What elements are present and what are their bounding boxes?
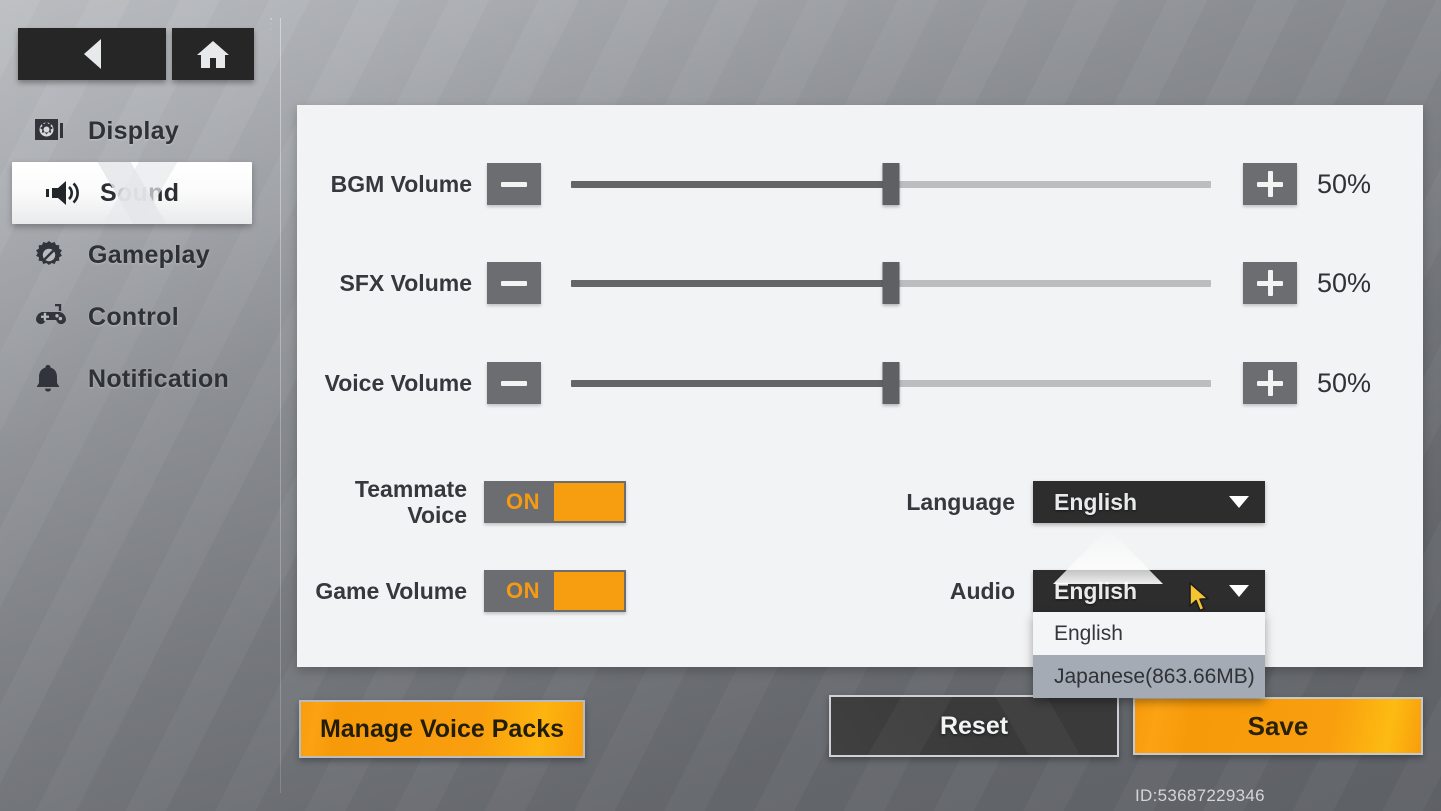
slider-thumb[interactable] — [883, 362, 900, 404]
language-label: Language — [760, 489, 1015, 515]
game-volume-toggle[interactable]: ON — [484, 570, 626, 612]
gear-icon — [34, 240, 74, 270]
sidebar-item-label: Display — [88, 117, 179, 146]
sfx-volume-decrease-button[interactable] — [487, 262, 541, 304]
slider-fill — [571, 280, 891, 287]
setting-row-bgm-volume: BGM Volume 50% — [297, 163, 1423, 205]
speaker-icon — [46, 179, 86, 207]
toggle-knob — [554, 483, 624, 521]
setting-label: SFX Volume — [297, 270, 472, 296]
slider-fill — [571, 380, 891, 387]
sidebar-item-gameplay[interactable]: Gameplay — [0, 224, 262, 286]
voice-volume-value: 50% — [1317, 368, 1371, 399]
sfx-volume-value: 50% — [1317, 268, 1371, 299]
audio-option-english[interactable]: English — [1033, 612, 1265, 655]
setting-row-game-volume: Game Volume ON Audio English English Jap… — [297, 570, 1423, 612]
bgm-volume-increase-button[interactable] — [1243, 163, 1297, 205]
slider-fill — [571, 181, 891, 188]
bgm-volume-value: 50% — [1317, 169, 1371, 200]
account-id-text: ID:53687229346 — [1135, 786, 1265, 806]
voice-volume-decrease-button[interactable] — [487, 362, 541, 404]
setting-label: Voice Volume — [297, 370, 472, 396]
language-dropdown-value: English — [1054, 489, 1137, 516]
audio-dropdown[interactable]: English English Japanese(863.66MB) — [1033, 570, 1265, 612]
bell-icon — [34, 364, 74, 394]
manage-voice-packs-label: Manage Voice Packs — [320, 715, 564, 744]
bgm-volume-slider[interactable] — [571, 169, 1211, 199]
setting-label: Teammate Voice — [297, 476, 467, 528]
dropdown-highlight-glow — [1053, 528, 1163, 584]
voice-volume-slider[interactable] — [571, 368, 1211, 398]
setting-row-voice-volume: Voice Volume 50% — [297, 362, 1423, 404]
display-icon — [34, 116, 74, 146]
toggle-state-label: ON — [506, 578, 540, 604]
minus-icon — [501, 281, 527, 286]
settings-panel: BGM Volume 50% SFX Volume — [297, 105, 1423, 667]
setting-row-teammate-voice: Teammate Voice ON Language English — [297, 476, 1423, 528]
vertical-divider — [280, 18, 281, 793]
chevron-down-icon — [1229, 585, 1249, 597]
slider-thumb[interactable] — [883, 163, 900, 205]
voice-volume-increase-button[interactable] — [1243, 362, 1297, 404]
divider-tick-marks: ■▪▪ — [270, 16, 280, 58]
minus-icon — [501, 182, 527, 187]
language-dropdown[interactable]: English — [1033, 481, 1265, 523]
gamepad-icon — [34, 304, 74, 330]
minus-icon — [501, 381, 527, 386]
save-label: Save — [1248, 711, 1309, 742]
manage-voice-packs-button[interactable]: Manage Voice Packs — [299, 700, 585, 758]
home-button[interactable] — [172, 28, 254, 80]
setting-row-sfx-volume: SFX Volume 50% — [297, 262, 1423, 304]
setting-label: Game Volume — [297, 578, 467, 604]
sidebar-item-label: Control — [88, 303, 179, 332]
sidebar-item-control[interactable]: Control — [0, 286, 262, 348]
back-button[interactable] — [18, 28, 166, 80]
sidebar-item-notification[interactable]: Notification — [0, 348, 262, 410]
sidebar-item-label: Sound — [100, 179, 179, 208]
audio-label: Audio — [760, 578, 1015, 604]
slider-thumb[interactable] — [883, 262, 900, 304]
sfx-volume-increase-button[interactable] — [1243, 262, 1297, 304]
game-settings-screen: Display Sound Gameplay — [0, 0, 1441, 811]
sidebar-item-sound[interactable]: Sound — [12, 162, 252, 224]
sfx-volume-slider[interactable] — [571, 268, 1211, 298]
reset-button[interactable]: Reset — [829, 695, 1119, 757]
save-button[interactable]: Save — [1133, 697, 1423, 755]
home-icon — [196, 39, 230, 69]
bgm-volume-decrease-button[interactable] — [487, 163, 541, 205]
settings-sidebar: Display Sound Gameplay — [0, 100, 262, 410]
sidebar-item-label: Gameplay — [88, 241, 210, 270]
teammate-voice-toggle[interactable]: ON — [484, 481, 626, 523]
reset-label: Reset — [940, 712, 1008, 741]
toggle-knob — [554, 572, 624, 610]
sidebar-item-display[interactable]: Display — [0, 100, 262, 162]
chevron-down-icon — [1229, 496, 1249, 508]
audio-option-japanese[interactable]: Japanese(863.66MB) — [1033, 655, 1265, 698]
audio-dropdown-value: English — [1054, 578, 1137, 605]
audio-dropdown-options: English Japanese(863.66MB) — [1033, 612, 1265, 698]
top-navigation — [0, 0, 300, 90]
setting-label: BGM Volume — [297, 171, 472, 197]
toggle-state-label: ON — [506, 489, 540, 515]
sidebar-item-label: Notification — [88, 365, 229, 394]
chevron-left-icon — [77, 37, 107, 71]
